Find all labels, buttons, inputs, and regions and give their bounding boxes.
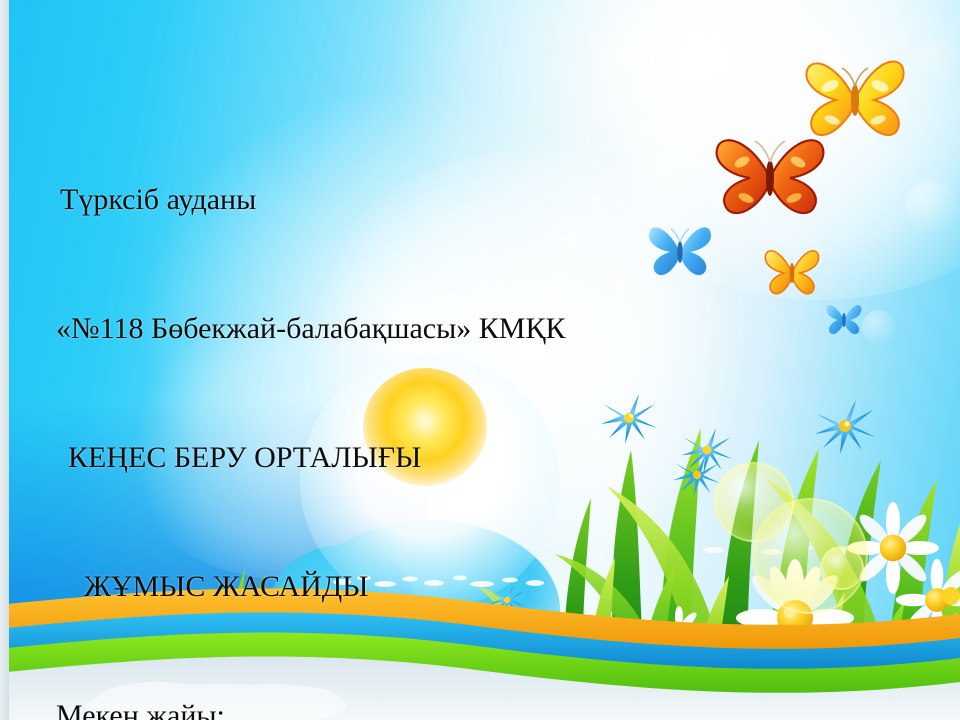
left-page-margin [0,0,9,720]
text-line-district: Түрксіб ауданы [56,178,565,221]
text-line-organization: «№118 Бөбекжай-балабақшасы» КМҚК [56,307,565,350]
text-line-center-status: ЖҰМЫС ЖАСАЙДЫ [56,565,565,608]
slide-canvas: Түрксіб ауданы «№118 Бөбекжай-балабақшас… [0,0,960,720]
text-line-center-name: КЕҢЕС БЕРУ ОРТАЛЫҒЫ [56,436,565,479]
text-line-address-label: Мекен жайы: [56,694,565,720]
slide-text-block: Түрксіб ауданы «№118 Бөбекжай-балабақшас… [56,92,565,720]
foam-speckles-right [700,540,900,560]
